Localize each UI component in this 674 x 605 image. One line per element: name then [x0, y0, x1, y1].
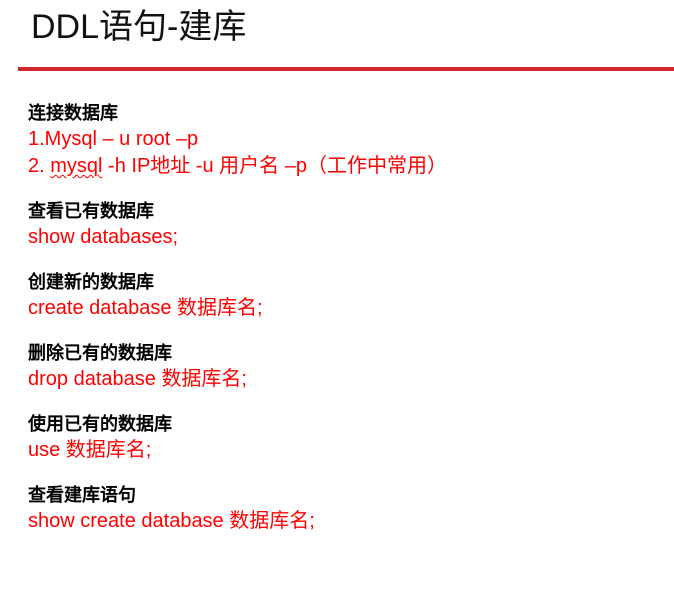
block-heading: 查看已有数据库	[28, 198, 666, 224]
page-title: DDL语句-建库	[31, 4, 246, 50]
block-heading: 连接数据库	[28, 100, 666, 126]
content-block-connect: 连接数据库 1.Mysql – u root –p 2. mysql -h IP…	[28, 100, 666, 180]
slide-body: 连接数据库 1.Mysql – u root –p 2. mysql -h IP…	[28, 100, 666, 535]
block-heading: 使用已有的数据库	[28, 411, 666, 437]
block-heading: 删除已有的数据库	[28, 340, 666, 366]
content-block-drop-database: 删除已有的数据库 drop database 数据库名;	[28, 340, 666, 393]
code-line-suffix: -h IP地址 -u 用户名 –p（工作中常用）	[102, 155, 447, 177]
code-line: drop database 数据库名;	[28, 366, 666, 393]
code-line: 2. mysql -h IP地址 -u 用户名 –p（工作中常用）	[28, 153, 666, 180]
content-block-create-database: 创建新的数据库 create database 数据库名;	[28, 269, 666, 322]
code-line-prefix: 2.	[28, 155, 50, 177]
title-divider-rule	[18, 67, 674, 71]
block-heading: 查看建库语句	[28, 482, 666, 508]
content-block-show-databases: 查看已有数据库 show databases;	[28, 198, 666, 251]
code-line: create database 数据库名;	[28, 295, 666, 322]
code-line: show create database 数据库名;	[28, 508, 666, 535]
content-block-use-database: 使用已有的数据库 use 数据库名;	[28, 411, 666, 464]
code-line: show databases;	[28, 224, 666, 251]
block-heading: 创建新的数据库	[28, 269, 666, 295]
code-line: 1.Mysql – u root –p	[28, 126, 666, 153]
code-line: use 数据库名;	[28, 437, 666, 464]
slide-canvas: DDL语句-建库 连接数据库 1.Mysql – u root –p 2. my…	[0, 0, 674, 605]
misspelled-word: mysql	[50, 155, 102, 177]
content-block-show-create-database: 查看建库语句 show create database 数据库名;	[28, 482, 666, 535]
